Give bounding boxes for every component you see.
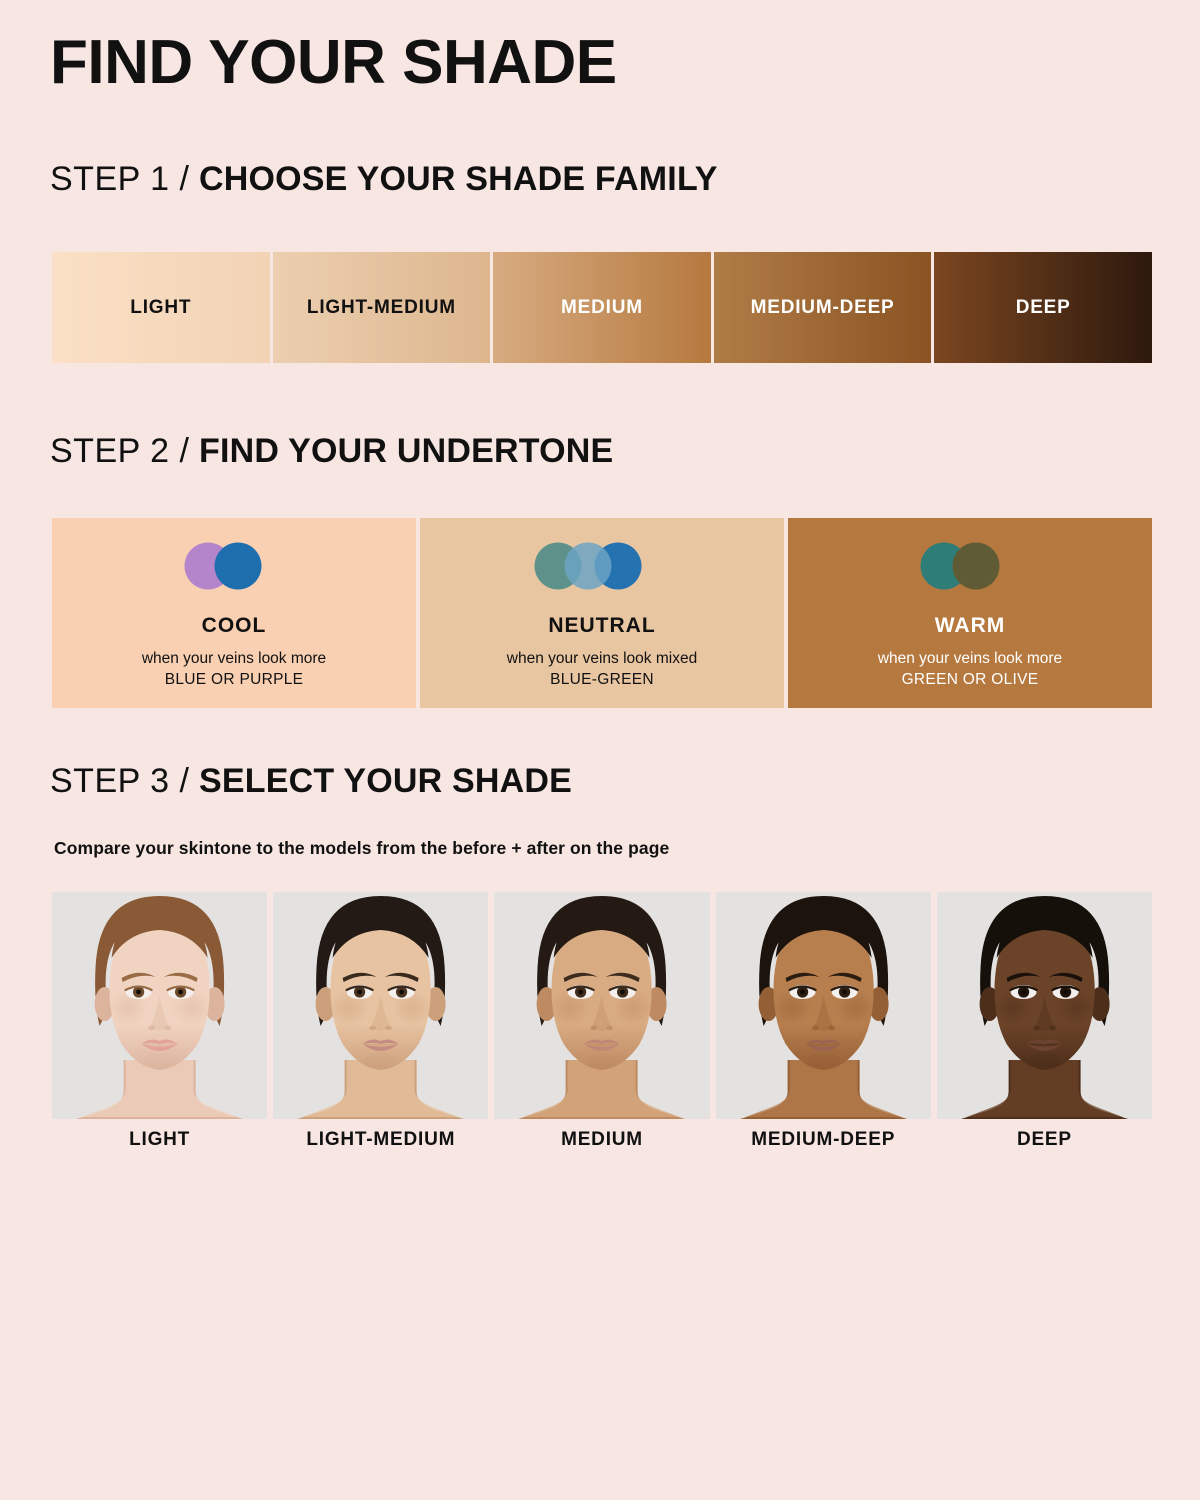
undertone-panels: COOL when your veins look more BLUE OR P… bbox=[52, 518, 1152, 708]
model-label: DEEP bbox=[1017, 1129, 1072, 1151]
model-label-cell: LIGHT-MEDIUM bbox=[273, 1126, 488, 1154]
step-2-title: FIND YOUR UNDERTONE bbox=[199, 432, 613, 470]
shade-swatch-deep[interactable]: DEEP bbox=[934, 252, 1152, 363]
model-label-cell: MEDIUM bbox=[494, 1126, 709, 1154]
model-label-row: LIGHT LIGHT-MEDIUM MEDIUM MEDIUM-DEEP DE… bbox=[52, 1126, 1152, 1154]
model-label-cell: MEDIUM-DEEP bbox=[716, 1126, 931, 1154]
model-label-cell: LIGHT bbox=[52, 1126, 267, 1154]
step-1-label: STEP 1 bbox=[50, 160, 170, 198]
shade-finder-page: FIND YOUR SHADE STEP 1/CHOOSE YOUR SHADE… bbox=[0, 0, 1200, 1500]
undertone-description-line1: when your veins look mixed bbox=[507, 649, 697, 668]
shade-swatch-light-medium[interactable]: LIGHT-MEDIUM bbox=[273, 252, 491, 363]
model-label-cell: DEEP bbox=[937, 1126, 1152, 1154]
shade-swatch-label: DEEP bbox=[1016, 297, 1071, 319]
shade-swatch-label: MEDIUM-DEEP bbox=[751, 297, 895, 319]
undertone-dots-cool bbox=[182, 542, 287, 590]
undertone-description-line2: BLUE OR PURPLE bbox=[165, 670, 304, 689]
step-3-separator: / bbox=[170, 762, 199, 800]
undertone-panel-cool[interactable]: COOL when your veins look more BLUE OR P… bbox=[52, 518, 416, 708]
shade-swatch-label: LIGHT-MEDIUM bbox=[307, 297, 456, 319]
model-label: LIGHT bbox=[129, 1129, 190, 1151]
model-photo-deep[interactable] bbox=[937, 892, 1152, 1119]
step-2-heading: STEP 2/FIND YOUR UNDERTONE bbox=[50, 434, 613, 468]
model-photo-medium[interactable] bbox=[494, 892, 709, 1119]
undertone-panel-neutral[interactable]: NEUTRAL when your veins look mixed BLUE-… bbox=[420, 518, 784, 708]
model-label: LIGHT-MEDIUM bbox=[306, 1129, 455, 1151]
model-photo-row bbox=[52, 892, 1152, 1119]
page-title: FIND YOUR SHADE bbox=[50, 32, 617, 94]
step-2-label: STEP 2 bbox=[50, 432, 170, 470]
undertone-panel-warm[interactable]: WARM when your veins look more GREEN OR … bbox=[788, 518, 1152, 708]
model-photo-medium-deep[interactable] bbox=[716, 892, 931, 1119]
undertone-description-line2: GREEN OR OLIVE bbox=[902, 670, 1039, 689]
undertone-title: NEUTRAL bbox=[548, 615, 655, 636]
shade-swatch-label: LIGHT bbox=[130, 297, 191, 319]
model-photo-light[interactable] bbox=[52, 892, 267, 1119]
shade-swatch-medium-deep[interactable]: MEDIUM-DEEP bbox=[714, 252, 932, 363]
step-1-separator: / bbox=[170, 160, 199, 198]
step-1-heading: STEP 1/CHOOSE YOUR SHADE FAMILY bbox=[50, 162, 718, 196]
model-photo-light-medium[interactable] bbox=[273, 892, 488, 1119]
undertone-description-line1: when your veins look more bbox=[878, 649, 1062, 668]
step-1-title: CHOOSE YOUR SHADE FAMILY bbox=[199, 160, 718, 198]
undertone-dots-neutral bbox=[532, 542, 672, 590]
undertone-title: WARM bbox=[935, 615, 1006, 636]
step-3-subtitle: Compare your skintone to the models from… bbox=[54, 838, 669, 859]
shade-swatch-label: MEDIUM bbox=[561, 297, 643, 319]
step-3-title: SELECT YOUR SHADE bbox=[199, 762, 572, 800]
undertone-dots-warm bbox=[918, 542, 1023, 590]
step-2-separator: / bbox=[170, 432, 199, 470]
step-3-heading: STEP 3/SELECT YOUR SHADE bbox=[50, 764, 572, 798]
undertone-title: COOL bbox=[202, 615, 267, 636]
step-3-label: STEP 3 bbox=[50, 762, 170, 800]
undertone-description-line2: BLUE-GREEN bbox=[550, 670, 654, 689]
shade-swatch-light[interactable]: LIGHT bbox=[52, 252, 270, 363]
shade-swatch-medium[interactable]: MEDIUM bbox=[493, 252, 711, 363]
model-label: MEDIUM bbox=[561, 1129, 643, 1151]
shade-family-bar: LIGHT LIGHT-MEDIUM MEDIUM MEDIUM-DEEP DE… bbox=[52, 252, 1152, 363]
undertone-description-line1: when your veins look more bbox=[142, 649, 326, 668]
model-label: MEDIUM-DEEP bbox=[751, 1129, 895, 1151]
